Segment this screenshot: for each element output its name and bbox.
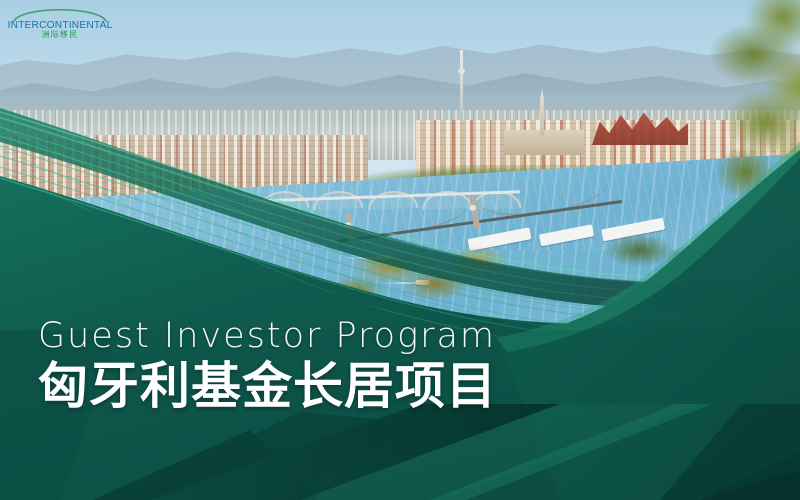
promo-banner: INTERCONTINENTAL 洲际移民 Guest Investor Pro… [0,0,800,500]
boat [184,250,202,255]
tree-foliage-lower-right [576,215,752,295]
autumn-foliage-foreground [328,230,536,320]
boat [72,230,94,235]
parliament-building [504,90,584,155]
intercontinental-logo[interactable]: INTERCONTINENTAL 洲际移民 [6,4,114,38]
tv-tower-icon [460,50,463,120]
title-block: Guest Investor Program 匈牙利基金长居项目 [38,318,497,414]
logo-chinese-name: 洲际移民 [42,29,79,38]
title-chinese: 匈牙利基金长居项目 [38,358,497,414]
budapest-photo [0,0,800,500]
title-english: Guest Investor Program [38,318,497,356]
